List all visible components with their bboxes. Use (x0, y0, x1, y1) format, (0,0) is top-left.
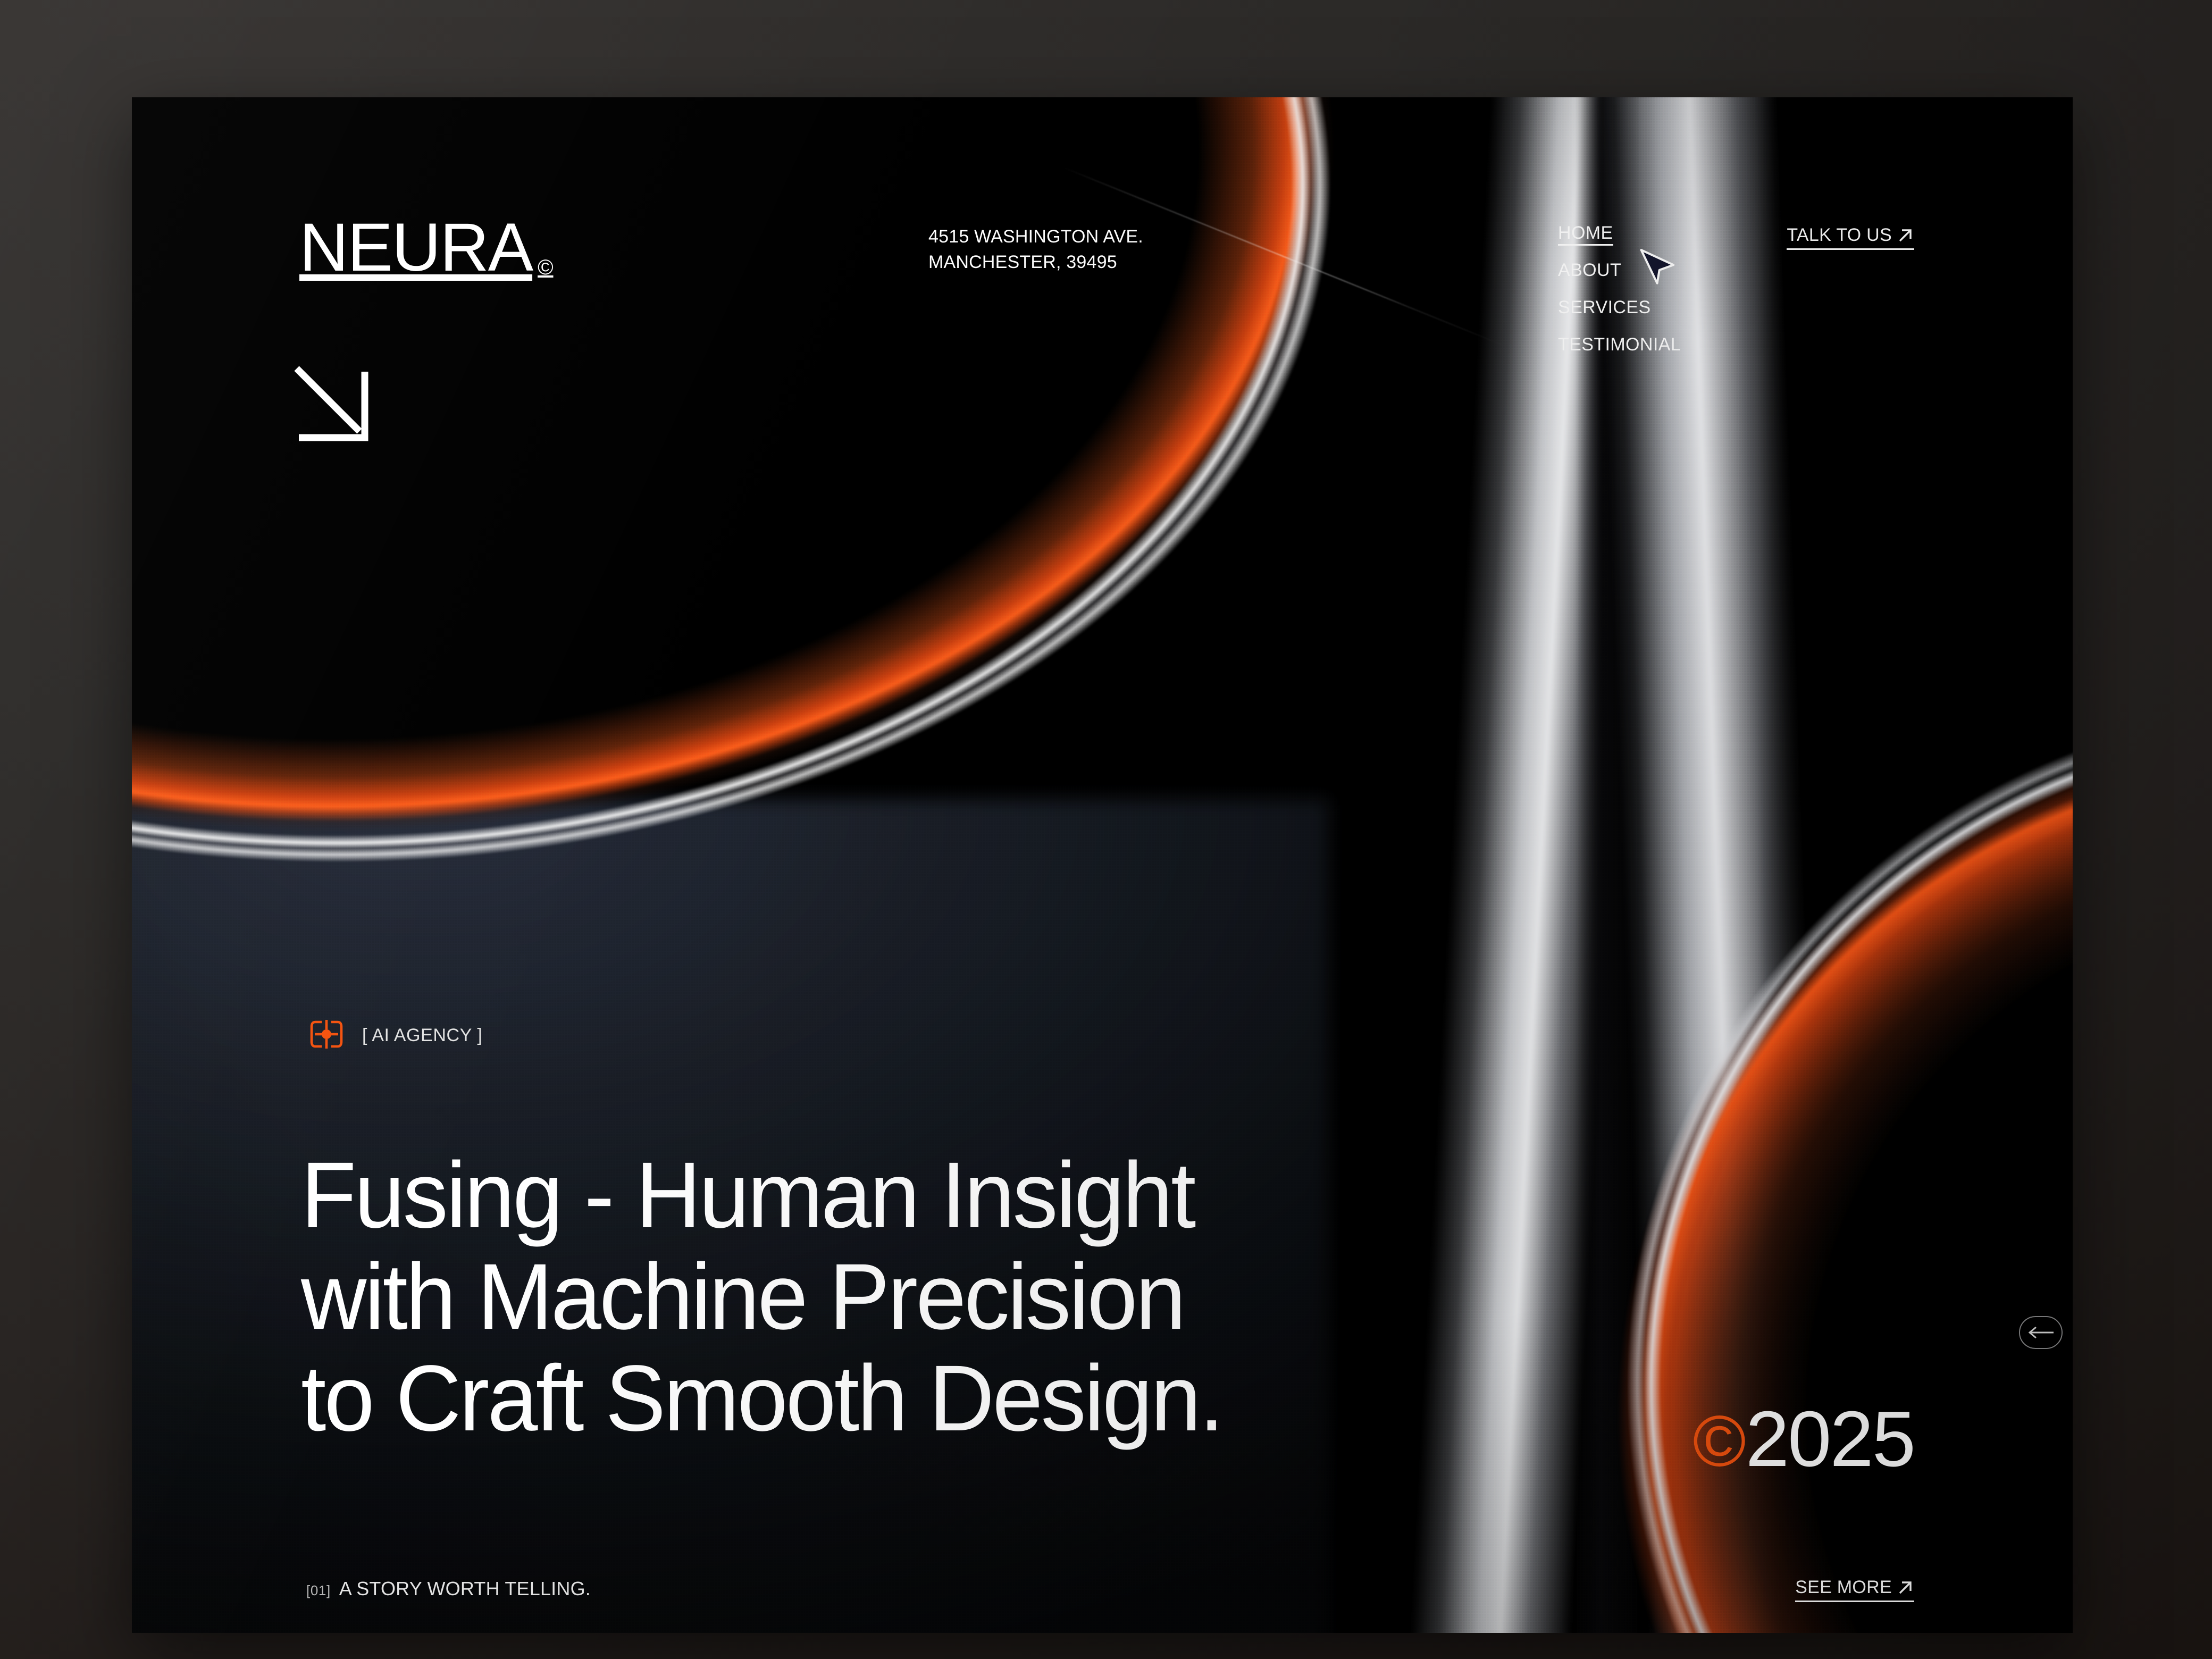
arrow-up-right-icon (1896, 227, 1914, 245)
copyright-year: © 2025 (1693, 1400, 1914, 1479)
nav-item-testimonial[interactable]: TESTIMONIAL (1558, 336, 1681, 354)
nav-item-services[interactable]: SERVICES (1558, 298, 1651, 316)
footer-caption-text: A STORY WORTH TELLING. (339, 1578, 591, 1600)
nav-item-home[interactable]: HOME (1558, 224, 1613, 246)
carousel-prev-button[interactable] (2019, 1316, 2063, 1349)
see-more-label: SEE MORE (1795, 1577, 1892, 1598)
talk-to-us-link[interactable]: TALK TO US (1787, 225, 1914, 250)
brand-copyright-mark: © (538, 256, 553, 280)
arrow-up-right-icon (1896, 1579, 1914, 1597)
copyright-symbol: © (1693, 1405, 1745, 1477)
mouse-pointer-icon (1640, 244, 1677, 284)
page-title: Fusing - Human Insight with Machine Prec… (301, 1145, 1222, 1449)
footer-index: [01] (306, 1582, 331, 1599)
arrow-left-icon (2027, 1326, 2055, 1339)
hero-section: NEURA © 4515 WASHINGTON AVE. MANCHESTER,… (132, 97, 2073, 1633)
ai-agency-badge: [ AI AGENCY ] (310, 1019, 482, 1052)
hero-ui-layer: NEURA © 4515 WASHINGTON AVE. MANCHESTER,… (132, 97, 2073, 1633)
ai-agency-badge-label: [ AI AGENCY ] (362, 1025, 482, 1046)
talk-to-us-label: TALK TO US (1787, 225, 1892, 246)
crosshair-target-icon (310, 1019, 343, 1052)
brand-logo-wordmark: NEURA (299, 219, 532, 277)
copyright-year-value: 2025 (1746, 1400, 1914, 1479)
brand-logo[interactable]: NEURA © (299, 219, 554, 280)
arrow-down-right-icon[interactable] (291, 363, 376, 448)
desktop-backdrop: NEURA © 4515 WASHINGTON AVE. MANCHESTER,… (0, 0, 2212, 1659)
footer-caption: [01] A STORY WORTH TELLING. (306, 1578, 591, 1600)
nav-item-about[interactable]: ABOUT (1558, 261, 1621, 279)
see-more-link[interactable]: SEE MORE (1795, 1577, 1914, 1602)
carousel-controls (2019, 1316, 2073, 1349)
office-address: 4515 WASHINGTON AVE. MANCHESTER, 39495 (928, 224, 1143, 275)
